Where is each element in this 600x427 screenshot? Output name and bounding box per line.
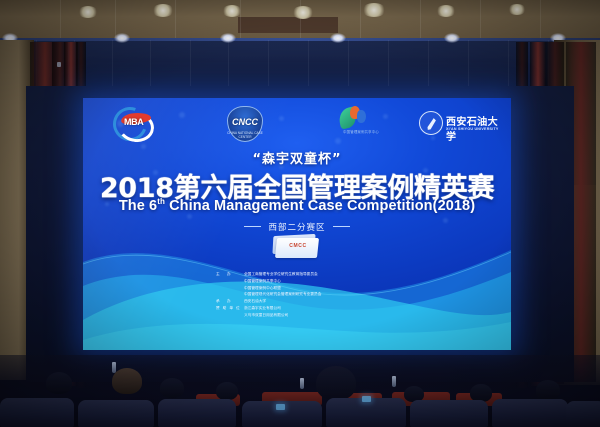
- stage-edge-light-icon: [330, 33, 346, 43]
- seat-back: [0, 398, 74, 427]
- seat-back: [326, 398, 406, 427]
- event-title-en-after: China Management Case Competition(2018): [165, 198, 475, 214]
- credit-key: 赞助单位: [216, 305, 244, 311]
- cmcc-badge-label: CMCC: [281, 243, 315, 249]
- event-title-en-ordinal: th: [157, 197, 165, 206]
- credit-key: 承 办: [216, 298, 244, 304]
- credit-key: [216, 312, 244, 318]
- water-bottle: [392, 376, 396, 387]
- credit-row: 中国管理现代化研究会管理案例研究专业委员会: [216, 291, 446, 297]
- phone-screen: [276, 404, 285, 410]
- led-screen: MBA CNCC CHINA NATIONAL CASE CENTER 中国管理…: [83, 98, 511, 350]
- audience-head: [46, 372, 72, 394]
- region-subtitle: 西部二分赛区: [83, 218, 511, 236]
- ceiling-seam: [420, 0, 421, 42]
- credit-key: 主 办: [216, 271, 244, 277]
- seat-back: [566, 401, 600, 427]
- water-bottle: [300, 378, 304, 389]
- stage-edge-light-icon: [444, 33, 460, 43]
- credit-value: 中国管理现代化研究会管理案例研究专业委员会: [244, 291, 446, 297]
- university-name-en: XI'AN SHIYOU UNIVERSITY: [446, 127, 499, 131]
- university-seal-emblem-icon: [425, 117, 439, 131]
- ceiling-spotlight-icon: [436, 5, 456, 17]
- association-logo-subtitle: 中国管理案例共享中心: [329, 129, 393, 134]
- auditorium-scene: MBA CNCC CHINA NATIONAL CASE CENTER 中国管理…: [0, 0, 600, 427]
- leaf-blue-icon: [357, 110, 366, 123]
- ceiling-spotlight-icon: [362, 3, 386, 17]
- ceiling-panel: [238, 17, 338, 33]
- ceiling-seam: [480, 0, 481, 42]
- sponsor-ribbon-title: “森宇双童杯”: [83, 148, 511, 167]
- mba-logo-text: MBA: [124, 117, 143, 127]
- cncc-logo-subtitle: CHINA NATIONAL CASE CENTER: [223, 131, 267, 139]
- ceiling-spotlight-icon: [508, 4, 526, 15]
- xian-shiyou-university-logo: 西安石油大学 XI'AN SHIYOU UNIVERSITY: [419, 104, 505, 146]
- audience-head: [316, 366, 356, 400]
- region-label: 西部二分赛区: [268, 221, 325, 233]
- audience-head: [536, 380, 560, 400]
- cncc-logo: CNCC CHINA NATIONAL CASE CENTER: [217, 104, 273, 146]
- region-rule-left: [244, 226, 261, 227]
- credit-row: 义乌市双童日用品有限公司: [216, 312, 446, 318]
- event-title-en: The 6th China Management Case Competitio…: [83, 197, 511, 214]
- cmcc-badge: CMCC: [273, 235, 321, 262]
- credit-value: 义乌市双童日用品有限公司: [244, 312, 446, 318]
- curtain-glint: [57, 62, 61, 67]
- stage-edge-light-icon: [114, 33, 130, 43]
- ceiling-spotlight-icon: [78, 6, 98, 18]
- phone-screen: [362, 396, 371, 402]
- ceiling-spotlight-icon: [222, 5, 242, 17]
- organizers-credits-block: 主 办全国工商管理专业学位研究生教育指导委员会中国管理案例共享中心中国管理案例中…: [216, 271, 446, 319]
- association-logo: 中国管理案例共享中心: [329, 104, 393, 146]
- credit-key: [216, 291, 244, 297]
- cncc-logo-text: CNCC: [229, 117, 261, 127]
- credit-row: 承 办西安石油大学: [216, 298, 446, 304]
- university-seal-icon: [419, 111, 443, 135]
- seat-back: [492, 399, 568, 427]
- region-rule-right: [333, 226, 350, 227]
- seat-back: [78, 400, 154, 427]
- credit-row: 主 办全国工商管理专业学位研究生教育指导委员会: [216, 271, 446, 277]
- ceiling-seam: [360, 0, 361, 42]
- credit-row: 中国管理案例中心联盟: [216, 285, 446, 291]
- credit-value: 中国管理案例共享中心: [244, 278, 446, 284]
- audience-head: [160, 378, 184, 398]
- credit-key: [216, 285, 244, 291]
- credit-value: 全国工商管理专业学位研究生教育指导委员会: [244, 271, 446, 277]
- sponsor-logo-row: MBA CNCC CHINA NATIONAL CASE CENTER 中国管理…: [83, 104, 511, 148]
- ceiling-seam: [175, 0, 176, 42]
- seat-back: [410, 400, 488, 427]
- valance-top-trim: [0, 38, 600, 41]
- ceiling-spotlight-icon: [152, 4, 174, 17]
- credit-value: 中国管理案例中心联盟: [244, 285, 446, 291]
- event-title-en-before: The 6: [119, 198, 157, 214]
- credit-row: 中国管理案例共享中心: [216, 278, 446, 284]
- audience-head: [112, 368, 142, 394]
- ceiling-seam: [540, 0, 541, 42]
- ceiling-spotlight-icon: [292, 6, 314, 19]
- audience-head: [216, 382, 238, 400]
- water-bottle: [112, 362, 116, 373]
- mba-education-logo: MBA: [105, 104, 167, 144]
- credit-value: 西安石油大学: [244, 298, 446, 304]
- seat-back: [158, 399, 236, 427]
- ceiling-seam: [60, 0, 61, 42]
- ceiling-seam: [240, 0, 241, 42]
- stage-edge-light-icon: [220, 33, 236, 43]
- credit-value: 浙江森宇实业有限公司: [244, 305, 446, 311]
- credit-key: [216, 278, 244, 284]
- credit-row: 赞助单位浙江森宇实业有限公司: [216, 305, 446, 311]
